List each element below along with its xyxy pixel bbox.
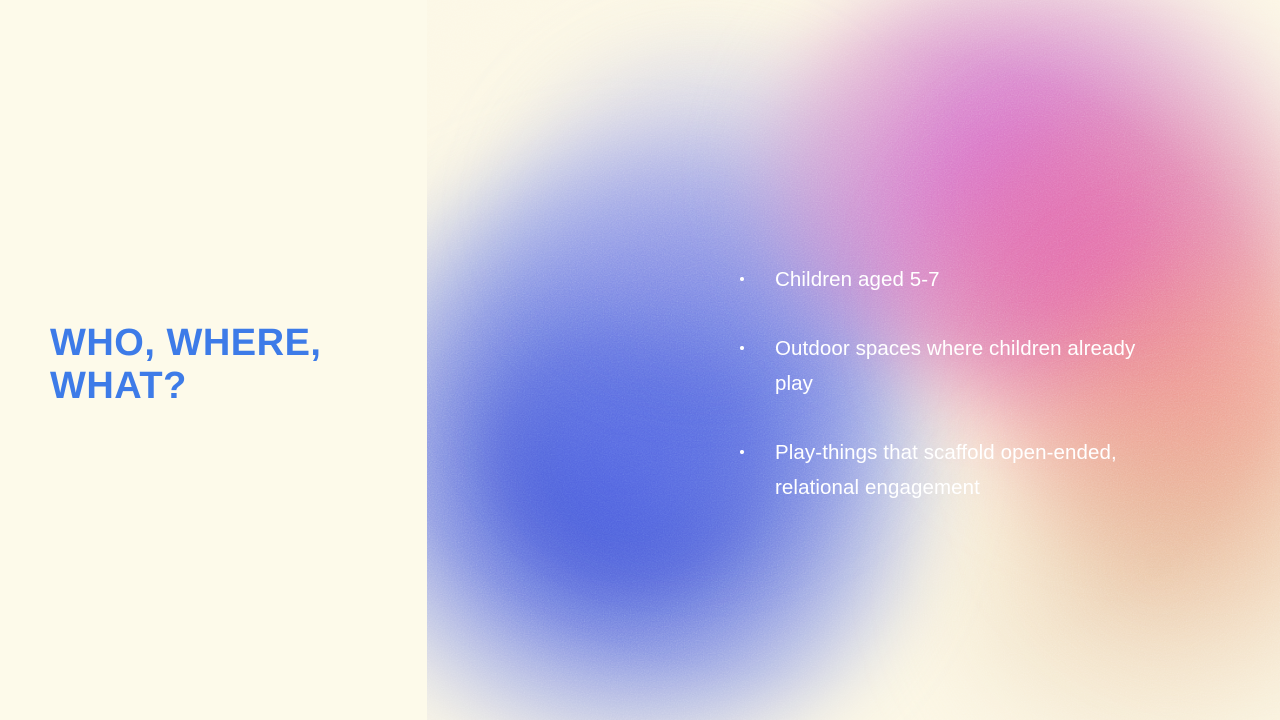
gradient-panel: Children aged 5-7 Outdoor spaces where c…: [427, 0, 1280, 720]
list-item: Children aged 5-7: [740, 262, 1160, 297]
list-item-label: Children aged 5-7: [775, 268, 940, 291]
slide-canvas: Children aged 5-7 Outdoor spaces where c…: [0, 0, 1280, 720]
bullet-dot-icon: [740, 277, 744, 281]
list-item-label: Play-things that scaffold open-ended, re…: [775, 441, 1117, 499]
list-item: Outdoor spaces where children already pl…: [740, 331, 1160, 401]
list-item-label: Outdoor spaces where children already pl…: [775, 337, 1135, 395]
title-panel: WHO, WHERE, WHAT?: [0, 0, 427, 720]
bullet-list: Children aged 5-7 Outdoor spaces where c…: [740, 262, 1160, 505]
page-title: WHO, WHERE, WHAT?: [50, 322, 400, 408]
bullet-dot-icon: [740, 450, 744, 454]
bullet-dot-icon: [740, 346, 744, 350]
list-item: Play-things that scaffold open-ended, re…: [740, 435, 1160, 505]
